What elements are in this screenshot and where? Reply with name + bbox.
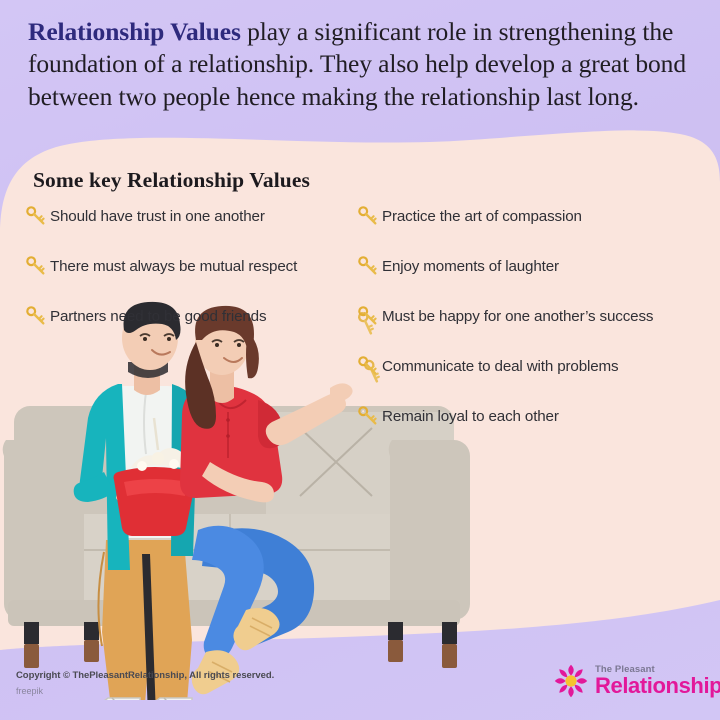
value-label: Should have trust in one another bbox=[50, 206, 265, 226]
logo-main-line: Relationship bbox=[595, 675, 720, 697]
copyright-text: Copyright © ThePleasantRelationship, All… bbox=[16, 670, 274, 681]
key-icon bbox=[26, 306, 46, 326]
key-icon bbox=[358, 356, 378, 376]
value-label: Enjoy moments of laughter bbox=[382, 256, 559, 276]
value-label: Practice the art of compassion bbox=[382, 206, 582, 226]
infographic-canvas: Relationship Values play a significant r… bbox=[0, 0, 720, 720]
value-label: There must always be mutual respect bbox=[50, 256, 297, 276]
value-list-item[interactable]: There must always be mutual respect bbox=[26, 256, 356, 306]
value-list-item[interactable]: Remain loyal to each other bbox=[358, 406, 708, 456]
header-paragraph: Relationship Values play a significant r… bbox=[28, 16, 696, 113]
value-list-item[interactable]: Practice the art of compassion bbox=[358, 206, 708, 256]
value-list-item[interactable]: Communicate to deal with problems bbox=[358, 356, 708, 406]
image-credit-text: freepik bbox=[16, 686, 43, 696]
key-icon bbox=[358, 206, 378, 226]
value-label: Communicate to deal with problems bbox=[382, 356, 618, 376]
section-title: Some key Relationship Values bbox=[33, 168, 310, 193]
logo-wordmark: The Pleasant Relationship bbox=[595, 665, 720, 698]
key-icon bbox=[358, 256, 378, 276]
flower-burst-icon bbox=[553, 663, 589, 699]
value-label: Must be happy for one another’s success bbox=[382, 306, 653, 326]
values-column-left: Should have trust in one another There m… bbox=[26, 206, 356, 356]
brand-logo[interactable]: The Pleasant Relationship bbox=[553, 663, 720, 699]
values-column-right: Practice the art of compassion Enjoy mom… bbox=[358, 206, 708, 456]
value-list-item[interactable]: Should have trust in one another bbox=[26, 206, 356, 256]
value-list-item[interactable]: Must be happy for one another’s success bbox=[358, 306, 708, 356]
key-icon bbox=[26, 206, 46, 226]
key-icon bbox=[26, 256, 46, 276]
key-icon bbox=[358, 306, 378, 326]
key-icon bbox=[358, 406, 378, 426]
value-list-item[interactable]: Partners need to be good friends bbox=[26, 306, 356, 356]
value-label: Partners need to be good friends bbox=[50, 306, 266, 326]
header-bold-lead: Relationship Values bbox=[28, 17, 241, 46]
value-list-item[interactable]: Enjoy moments of laughter bbox=[358, 256, 708, 306]
value-label: Remain loyal to each other bbox=[382, 406, 559, 426]
